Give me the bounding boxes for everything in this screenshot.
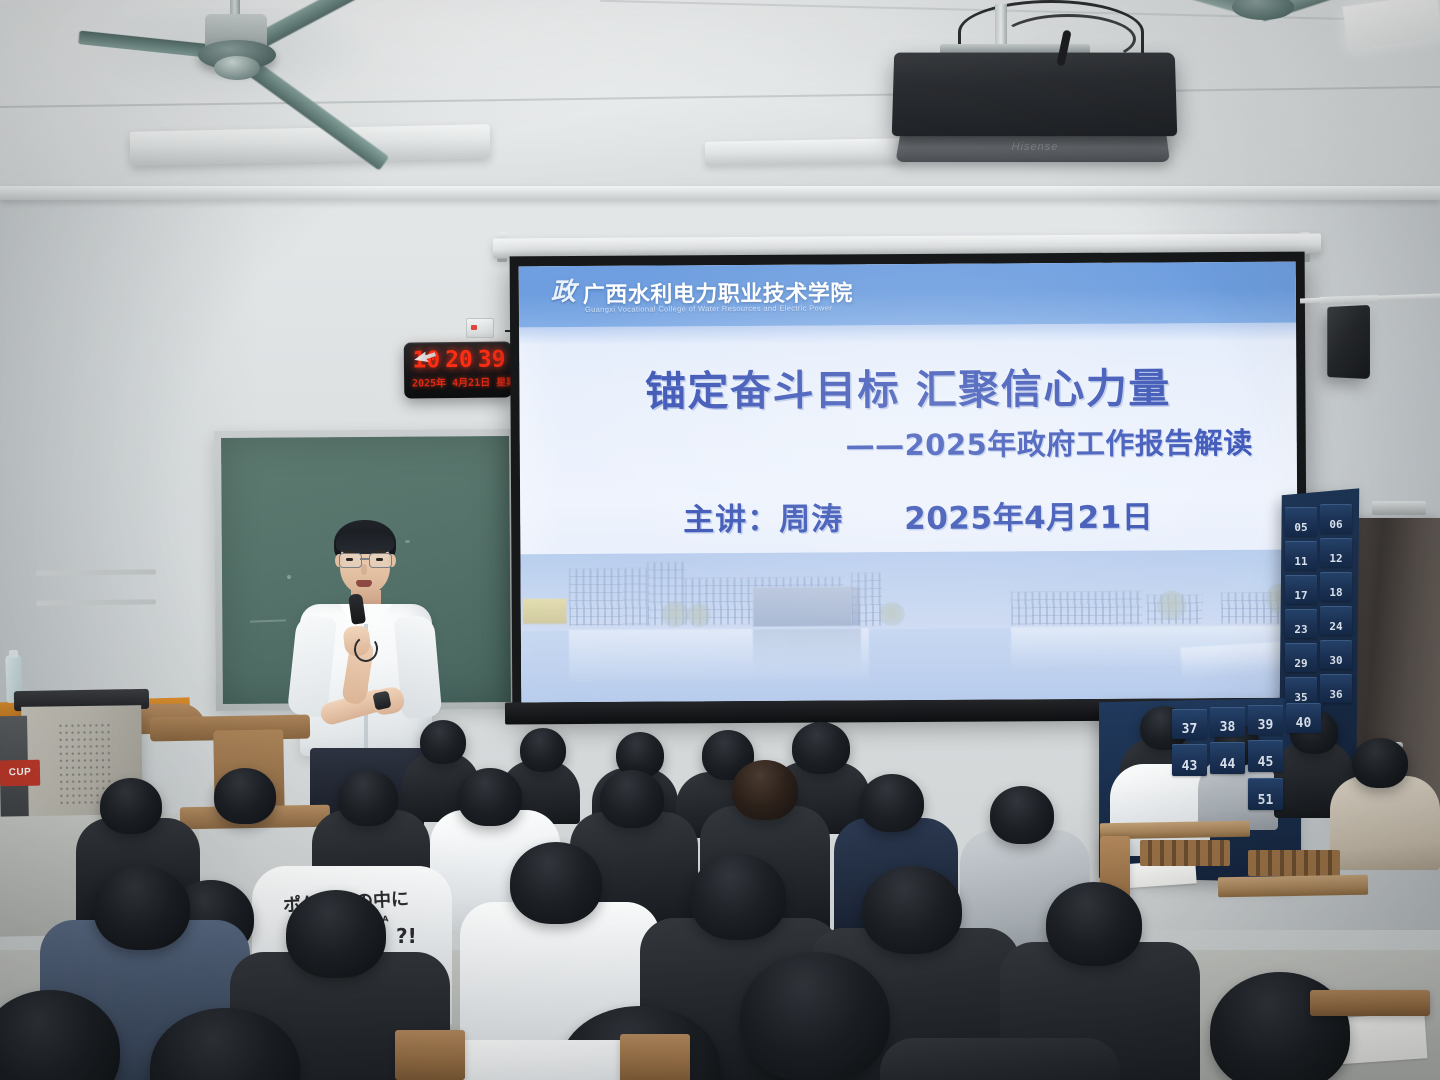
slide-presenter: 主讲：周涛	[683, 493, 843, 539]
fan-light-dome	[214, 56, 260, 80]
bench-top	[1310, 990, 1430, 1016]
phone-pocket[interactable]: 05	[1285, 507, 1317, 536]
phone-pocket[interactable]: 51	[1248, 778, 1283, 810]
presenter-eye	[346, 558, 353, 561]
student-head	[862, 866, 962, 954]
phone-pocket[interactable]: 39	[1248, 705, 1283, 735]
phone-pocket[interactable]: 44	[1210, 742, 1245, 774]
phone-pocket[interactable]: 29	[1285, 643, 1317, 672]
projector-body	[892, 53, 1178, 137]
clock-minutes: 20	[445, 347, 473, 373]
clock-seconds: 39	[478, 347, 506, 373]
phone-pocket[interactable]: 30	[1320, 640, 1352, 669]
slide-title: 锚定奋斗目标 汇聚信心力量	[519, 354, 1296, 419]
tshirt-text-line3: ?!	[396, 924, 417, 948]
student-body	[1330, 776, 1440, 870]
projector-brand-label: Hisense	[980, 141, 1090, 153]
photo-building	[569, 568, 651, 626]
student-head	[286, 890, 386, 978]
bench-armrest	[395, 1030, 465, 1080]
student-head	[860, 774, 924, 832]
phone-pocket[interactable]: 43	[1172, 744, 1207, 776]
clock-date-display: 2025年 4月21日 星期一	[409, 373, 512, 389]
student-head	[792, 722, 850, 774]
student-head	[1046, 882, 1142, 966]
photo-tree	[661, 601, 689, 627]
photo-building-entrance	[753, 586, 861, 627]
water-bottle-cap	[9, 650, 18, 658]
phone-pocket[interactable]: 36	[1320, 674, 1352, 703]
chair-backrest	[1140, 840, 1230, 866]
university-logo-icon: 政	[551, 278, 581, 308]
student-head	[990, 786, 1054, 844]
student-desk	[1218, 875, 1368, 898]
photo-building-far	[1011, 591, 1143, 626]
phone-pocket[interactable]: 24	[1320, 606, 1352, 635]
presenter-mouth	[356, 580, 372, 587]
student-head-foreground	[740, 952, 890, 1080]
student-body	[880, 1038, 1120, 1080]
student-head	[94, 866, 190, 950]
presenter-nose	[361, 564, 367, 575]
photo-building	[851, 572, 883, 626]
wall-outlet[interactable]	[466, 318, 494, 338]
student-head	[100, 778, 162, 834]
fan-hub	[1232, 0, 1294, 20]
student-head	[520, 728, 566, 772]
student-head	[690, 854, 786, 940]
phone-pocket[interactable]: 45	[1248, 740, 1283, 772]
fan-downrod	[230, 0, 240, 14]
phone-pocket[interactable]: 38	[1210, 707, 1245, 737]
student-head	[600, 770, 664, 828]
glasses-bridge	[360, 558, 370, 560]
wall-cornice	[0, 186, 1440, 200]
phone-pocket[interactable]: 12	[1320, 538, 1352, 567]
phone-pocket[interactable]: 18	[1320, 572, 1352, 601]
photo-tree	[879, 602, 905, 626]
chair-backrest	[1248, 850, 1340, 876]
slide-campus-photo	[520, 550, 1298, 703]
student-head	[1352, 738, 1408, 788]
photo-tree	[1157, 590, 1187, 620]
slide-header-glow	[519, 323, 1296, 346]
ceiling-fan-left	[90, 0, 380, 125]
door-closer-box	[1372, 501, 1426, 515]
student-head	[420, 720, 466, 764]
slide-subtitle: ——2025年政府工作报告解读	[845, 420, 1252, 464]
bench-armrest	[620, 1034, 690, 1080]
student-head	[732, 760, 798, 820]
phone-pocket[interactable]: 11	[1285, 541, 1317, 570]
outlet-led-icon	[471, 325, 477, 330]
student-head	[510, 842, 602, 924]
phone-pocket[interactable]: 23	[1285, 609, 1317, 638]
university-name-en: Guangxi Vocational College of Water Reso…	[585, 303, 832, 314]
phone-pocket[interactable]: 35	[1285, 677, 1317, 706]
student-head	[214, 768, 276, 824]
phone-pocket[interactable]: 06	[1320, 504, 1352, 533]
phone-pocket[interactable]: 17	[1285, 575, 1317, 604]
audience: 05 06 11 12 17 18 23 24 29 30 35 36 37 3…	[0, 690, 1440, 1080]
student-head	[338, 770, 398, 826]
slide-date: 2025年4月21日	[904, 492, 1153, 539]
wall-speaker	[1327, 305, 1370, 379]
ceiling-light-fixture-center	[705, 138, 905, 165]
projection-screen: 政 广西水利电力职业技术学院 Guangxi Vocational Colleg…	[519, 262, 1299, 703]
photo-building-yellow	[523, 598, 567, 624]
presenter-eye	[376, 558, 383, 561]
phone-pocket[interactable]: 37	[1172, 709, 1207, 739]
student-head	[458, 768, 522, 826]
student-head-foreground	[1210, 972, 1350, 1080]
photo-tree	[687, 603, 711, 627]
classroom-photo: Hisense 10 20 39 2025年 4月21日 星期一 政 广西水利电…	[0, 0, 1440, 1080]
phone-pocket[interactable]: 40	[1286, 703, 1321, 733]
photo-reflection-entrance	[753, 628, 861, 671]
